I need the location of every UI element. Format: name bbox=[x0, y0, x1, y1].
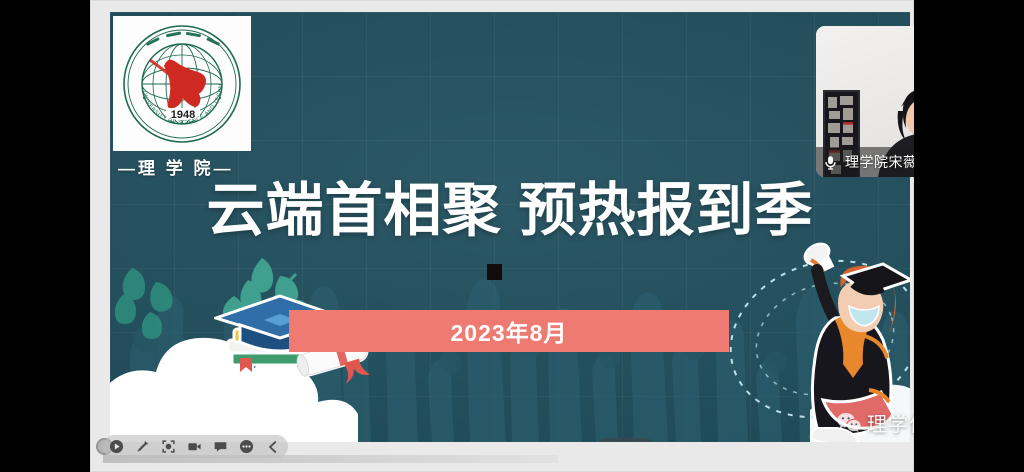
university-logo-card: 1948 UNIVERSITY OF SCIENCE AND TECHNOLOG… bbox=[113, 16, 251, 151]
participant-name: 理学院宋薇 bbox=[845, 152, 918, 172]
pen-annotate-button[interactable] bbox=[135, 439, 150, 454]
laser-pointer-button[interactable] bbox=[161, 439, 176, 454]
date-banner: 2023年8月 bbox=[289, 310, 729, 352]
department-label: —理 学 院— bbox=[118, 154, 233, 179]
play-button[interactable] bbox=[109, 439, 124, 454]
university-emblem-icon: 1948 UNIVERSITY OF SCIENCE AND TECHNOLOG… bbox=[120, 22, 244, 146]
cursor-artifact bbox=[487, 264, 502, 280]
slide-title: 云端首相聚 预热报到季 bbox=[110, 182, 910, 240]
shared-slide[interactable]: 1948 UNIVERSITY OF SCIENCE AND TECHNOLOG… bbox=[110, 12, 910, 442]
collapse-toolbar-button[interactable] bbox=[265, 439, 280, 454]
microphone-icon bbox=[822, 154, 839, 171]
presentation-toolbar[interactable] bbox=[103, 435, 288, 458]
foliage-decoration-secondary bbox=[112, 260, 212, 350]
page-indicator: 1/14 bbox=[597, 438, 655, 442]
screen-root: 1948 UNIVERSITY OF SCIENCE AND TECHNOLOG… bbox=[0, 0, 1024, 472]
left-letterbox-bar bbox=[0, 0, 90, 472]
right-letterbox-bar bbox=[914, 0, 1024, 472]
chat-button[interactable] bbox=[213, 439, 228, 454]
date-banner-text: 2023年8月 bbox=[451, 314, 568, 348]
record-button[interactable] bbox=[187, 439, 202, 454]
more-options-button[interactable] bbox=[239, 439, 254, 454]
graduate-illustration bbox=[765, 240, 910, 442]
